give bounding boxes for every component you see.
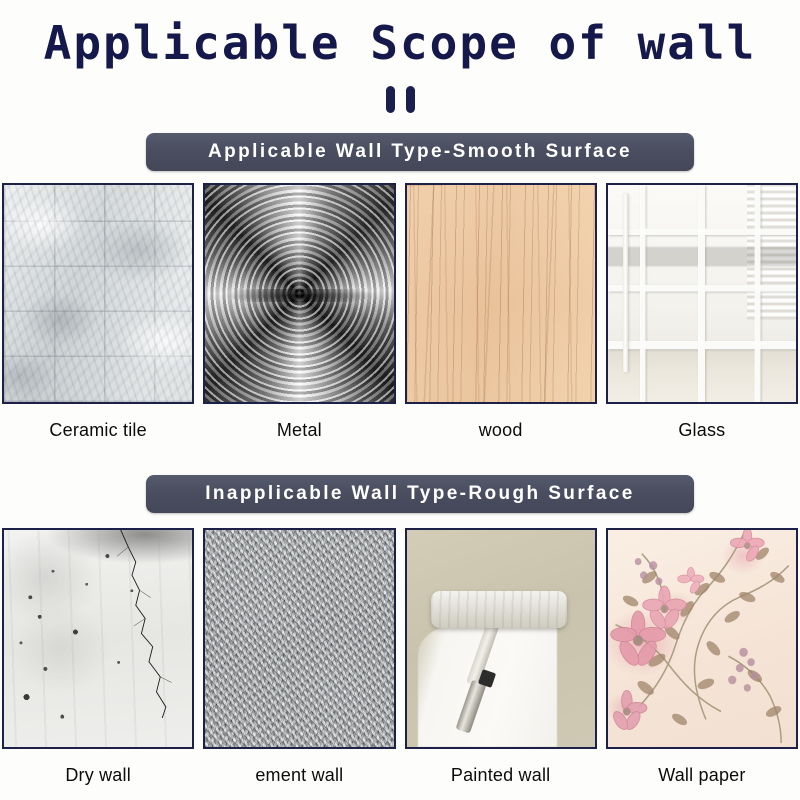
tile-label-wall-paper: Wall paper [606,765,798,786]
tile-label-wood: wood [405,420,597,441]
tile-dry-wall [2,528,194,749]
tile-row-rough [0,528,800,749]
divider-mark-left [386,86,395,113]
glass-door-post [623,194,629,372]
tile-label-cement-wall: ement wall [203,765,395,786]
section-banner-rough: Inapplicable Wall Type-Rough Surface [146,475,694,513]
tile-wood [405,183,597,404]
tile-label-row-smooth: Ceramic tile Metal wood Glass [0,420,800,441]
tile-label-row-rough: Dry wall ement wall Painted wall Wall pa… [0,765,800,786]
paint-roller-icon [431,591,567,628]
tile-painted-wall [405,528,597,749]
tile-row-smooth [0,183,800,404]
section-banner-smooth: Applicable Wall Type-Smooth Surface [146,133,694,171]
divider-mark-right [406,86,415,113]
tile-wall-paper [606,528,798,749]
tile-ceramic-tile [2,183,194,404]
page-title: Applicable Scope of wall [0,14,800,72]
tile-label-glass: Glass [606,420,798,441]
tile-glass [606,183,798,404]
tile-label-metal: Metal [203,420,395,441]
tile-label-painted-wall: Painted wall [405,765,597,786]
tile-metal [203,183,395,404]
drywall-crack-icon [4,530,192,718]
glass-mullion-grid [608,185,796,402]
divider-marks [0,86,800,113]
floral-pattern-icon [608,530,796,747]
tile-label-dry-wall: Dry wall [2,765,194,786]
tile-cement-wall [203,528,395,749]
tile-label-ceramic-tile: Ceramic tile [2,420,194,441]
